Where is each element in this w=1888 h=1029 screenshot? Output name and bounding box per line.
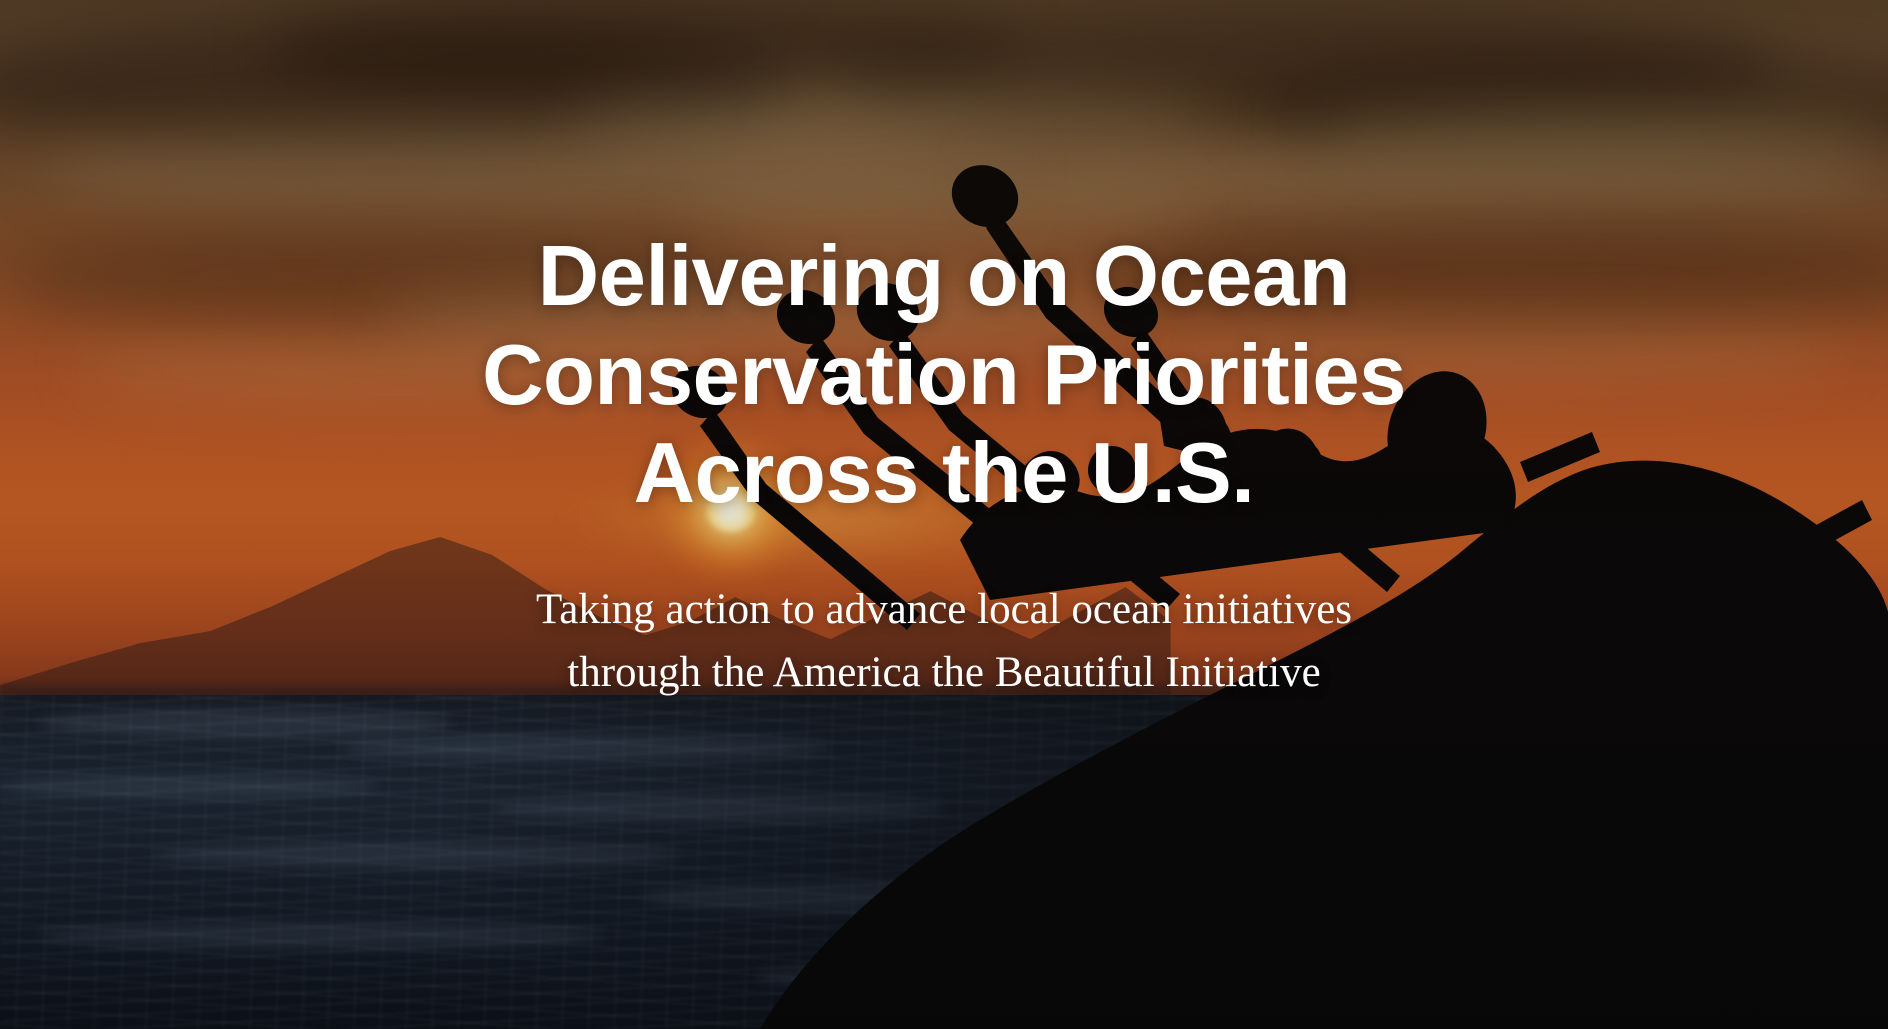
- headline-line-1: Delivering on Ocean: [279, 228, 1609, 327]
- headline-line-3: Across the U.S.: [279, 425, 1609, 524]
- page-subtitle: Taking action to advance local ocean ini…: [384, 578, 1504, 705]
- title-slide: Delivering on Ocean Conservation Priorit…: [0, 0, 1888, 1029]
- subtitle-line-1: Taking action to advance local ocean ini…: [384, 578, 1504, 642]
- headline-line-2: Conservation Priorities: [279, 327, 1609, 426]
- subtitle-line-2: through the America the Beautiful Initia…: [384, 641, 1504, 705]
- page-title: Delivering on Ocean Conservation Priorit…: [279, 228, 1609, 524]
- slide-content: Delivering on Ocean Conservation Priorit…: [0, 0, 1888, 1029]
